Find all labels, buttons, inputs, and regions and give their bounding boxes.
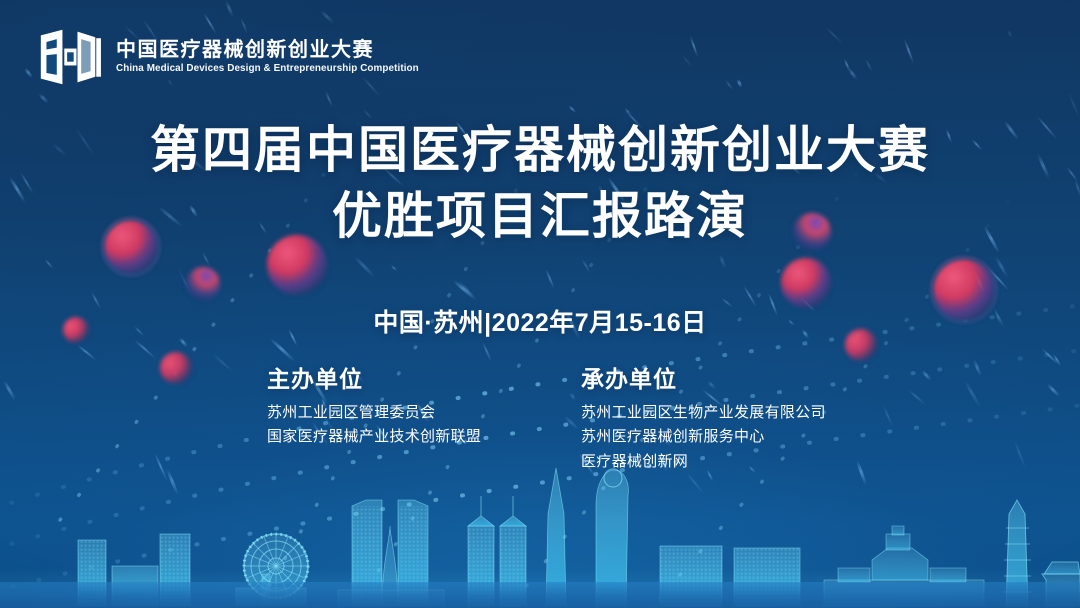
- organizer-section: 主办单位 苏州工业园区管理委员会 国家医疗器械产业技术创新联盟 承办单位 苏州工…: [0, 368, 1080, 474]
- competition-logo: 中国医疗器械创新创业大赛 China Medical Devices Desig…: [36, 26, 438, 88]
- logo-title-cn: 中国医疗器械创新创业大赛: [116, 40, 438, 60]
- open-door-window-logo-icon: [36, 26, 102, 88]
- event-poster: 中国医疗器械创新创业大赛 China Medical Devices Desig…: [0, 0, 1080, 608]
- bottom-light-band: [0, 582, 1080, 608]
- organizer-entity: 医疗器械创新网: [581, 450, 813, 474]
- headline-line-2: 优胜项目汇报路演: [0, 188, 1080, 244]
- headline-line-1: 第四届中国医疗器械创新创业大赛: [0, 122, 1080, 178]
- logo-title-en: China Medical Devices Design & Entrepren…: [116, 63, 419, 74]
- poster-headline: 第四届中国医疗器械创新创业大赛 优胜项目汇报路演: [0, 122, 1080, 244]
- organizer-entity: 苏州工业园区管理委员会: [267, 401, 499, 425]
- organizer-entity: 苏州工业园区生物产业发展有限公司: [581, 401, 813, 425]
- organizer-block-host: 主办单位 苏州工业园区管理委员会 国家医疗器械产业技术创新联盟: [267, 368, 499, 474]
- organizer-role-label: 承办单位: [581, 368, 813, 391]
- organizer-block-coorganizer: 承办单位 苏州工业园区生物产业发展有限公司 苏州医疗器械创新服务中心 医疗器械创…: [581, 368, 813, 474]
- organizer-entity: 苏州医疗器械创新服务中心: [581, 425, 813, 449]
- organizer-role-label: 主办单位: [267, 368, 499, 391]
- event-dateline: 中国·苏州|2022年7月15-16日: [0, 303, 1080, 339]
- organizer-entity: 国家医疗器械产业技术创新联盟: [267, 425, 499, 449]
